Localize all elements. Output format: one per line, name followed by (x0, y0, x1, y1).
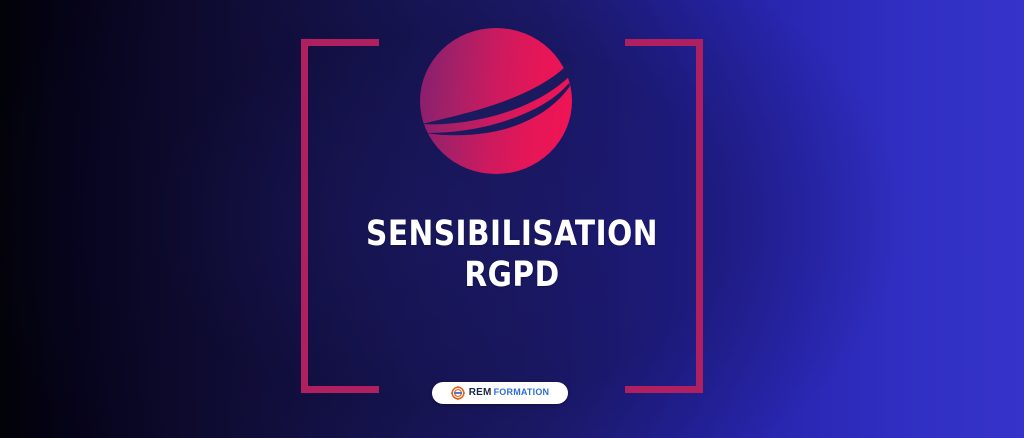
brand-name-primary: REM (469, 387, 492, 398)
slide-title-line-2: RGPD (31, 255, 994, 296)
rem-gear-icon (451, 386, 465, 400)
brand-name-secondary: FORMATION (494, 387, 550, 397)
brand-badge-text: REMFORMATION (469, 388, 549, 398)
slide-title: SENSIBILISATION RGPD (0, 214, 1024, 297)
globe-swoosh-logo (420, 28, 572, 174)
presentation-slide: SENSIBILISATION RGPD (0, 0, 1024, 438)
brand-badge: REMFORMATION (432, 382, 568, 404)
slide-title-line-1: SENSIBILISATION (31, 214, 994, 255)
